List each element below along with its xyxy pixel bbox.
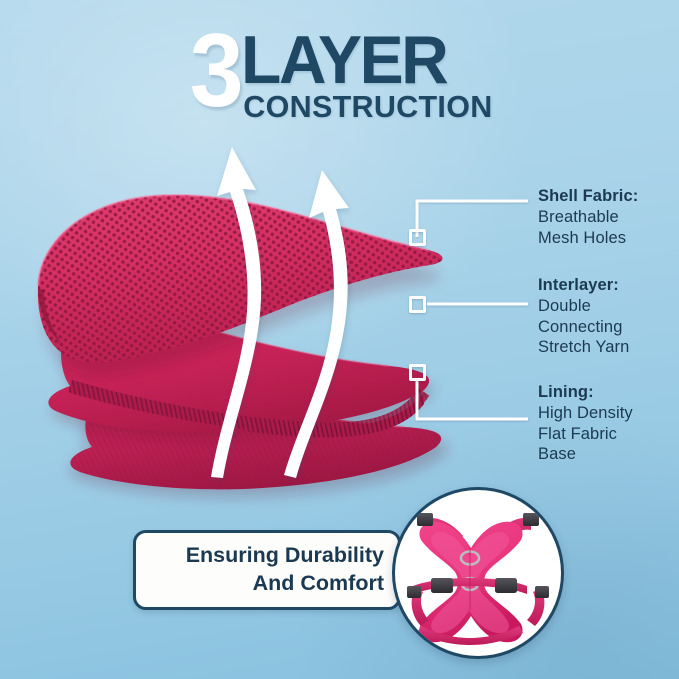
- callout-heading-interlayer: Interlayer:: [538, 275, 629, 296]
- slider-right: [523, 513, 539, 526]
- infographic-canvas: 3 LAYER CONSTRUCTION: [0, 0, 679, 679]
- callout-label-shell-fabric: Shell Fabric: Breathable Mesh Holes: [538, 186, 638, 248]
- slider-lower-right: [535, 586, 549, 598]
- product-photo-circle: [392, 487, 564, 659]
- callout-heading-lining: Lining:: [538, 382, 633, 403]
- tagline-line-2: And Comfort: [152, 570, 384, 598]
- callout-body-interlayer-1: Double: [538, 296, 629, 317]
- callout-body-shell-2: Mesh Holes: [538, 228, 638, 249]
- callout-body-interlayer-3: Stretch Yarn: [538, 337, 629, 358]
- dog-harness-illustration: [395, 490, 561, 656]
- callout-body-shell-1: Breathable: [538, 207, 638, 228]
- leader-line-lining: [417, 381, 528, 419]
- slider-left: [417, 513, 433, 526]
- callout-marker-lining: [409, 364, 426, 381]
- callout-marker-interlayer: [409, 296, 426, 313]
- buckle-right: [495, 578, 517, 593]
- callout-label-lining: Lining: High Density Flat Fabric Base: [538, 382, 633, 465]
- callout-body-interlayer-2: Connecting: [538, 317, 629, 338]
- tagline-banner: Ensuring Durability And Comfort: [133, 530, 401, 610]
- tagline-text: Ensuring Durability And Comfort: [136, 542, 398, 598]
- callout-heading-shell: Shell Fabric:: [538, 186, 638, 207]
- callout-body-lining-3: Base: [538, 444, 633, 465]
- callout-body-lining-2: Flat Fabric: [538, 424, 633, 445]
- callout-body-lining-1: High Density: [538, 403, 633, 424]
- leader-line-shell: [417, 201, 528, 237]
- callout-label-interlayer: Interlayer: Double Connecting Stretch Ya…: [538, 275, 629, 358]
- tagline-line-1: Ensuring Durability: [152, 542, 384, 570]
- slider-lower-left: [407, 586, 421, 598]
- buckle-left: [431, 578, 453, 593]
- callout-marker-shell: [409, 229, 426, 246]
